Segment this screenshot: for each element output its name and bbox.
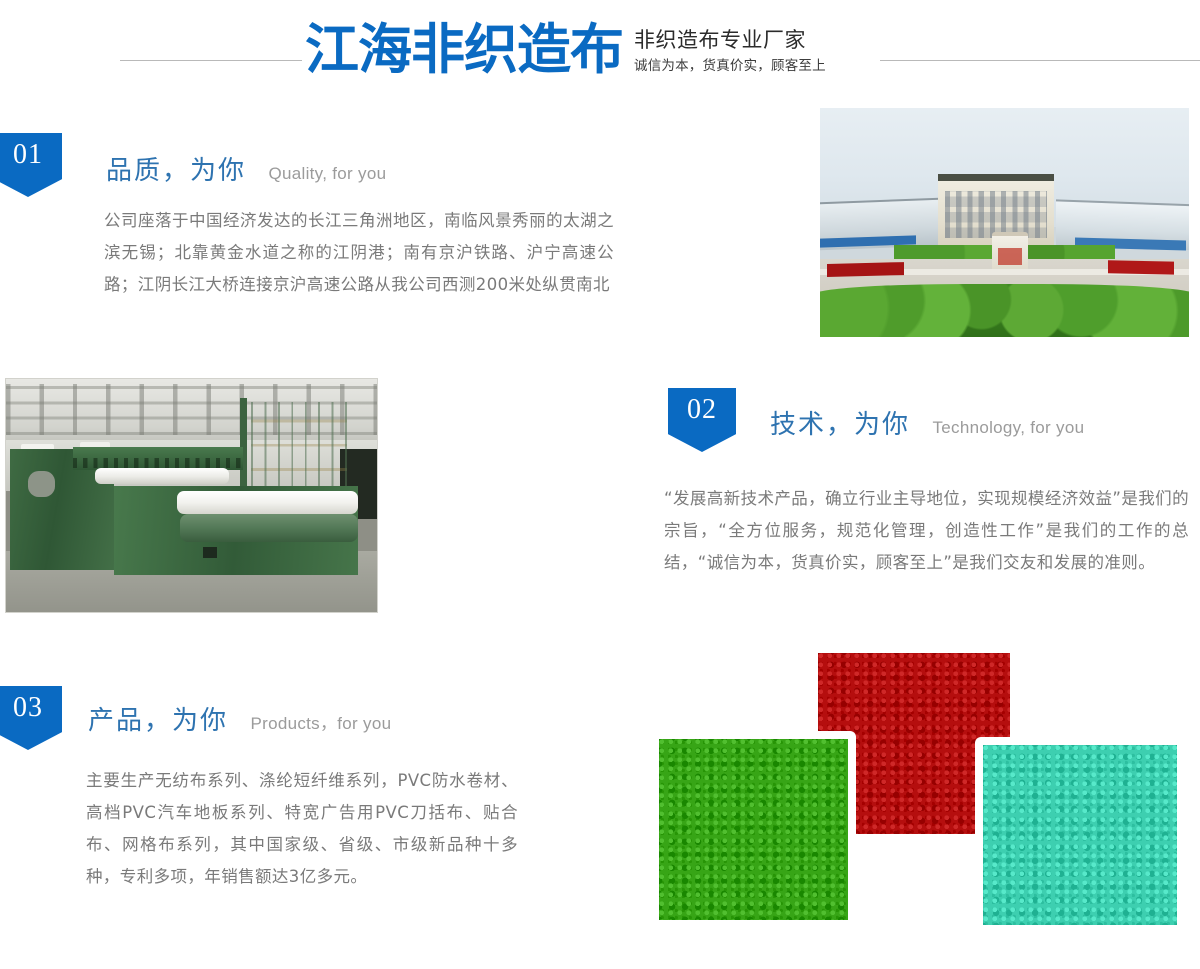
campus-hedge xyxy=(820,284,1189,337)
company-intro-page: 江海非织造布 非织造布专业厂家 诚信为本，货真价实，顾客至上 01 品质，为你 … xyxy=(0,0,1200,969)
section-heading-02: 技术，为你 Technology, for you xyxy=(770,404,1084,441)
machine-upper-housing xyxy=(73,447,244,470)
company-tagline-block: 非织造布专业厂家 诚信为本，货真价实，顾客至上 xyxy=(634,27,849,75)
pvc-swatch-green xyxy=(651,731,856,928)
section-badge-03: 03 xyxy=(0,686,62,750)
tagline-secondary: 诚信为本，货真价实，顾客至上 xyxy=(634,57,849,75)
section-badge-01: 01 xyxy=(0,133,62,197)
section-heading-03-cn: 产品，为你 xyxy=(88,706,228,736)
section-body-02: “发展高新技术产品，确立行业主导地位，实现规模经济效益”是我们的宗旨，“全方位服… xyxy=(664,483,1189,579)
campus-sign-right xyxy=(1108,261,1174,275)
section-heading-03-en: Products，for you xyxy=(250,714,391,733)
pvc-swatch-teal-surface xyxy=(983,745,1177,925)
section-heading-01: 品质，为你 Quality, for you xyxy=(106,150,386,187)
machine-vent xyxy=(203,547,218,559)
section-body-01: 公司座落于中国经济发达的长江三角洲地区，南临风景秀丽的太湖之滨无锡；北靠黄金水道… xyxy=(104,205,614,301)
machine-pipework xyxy=(251,402,347,495)
header-rule-left xyxy=(120,60,302,61)
company-logo-text: 江海非织造布 xyxy=(305,21,623,79)
section-badge-02: 02 xyxy=(668,388,736,452)
fabric-roll-main xyxy=(177,491,359,514)
factory-campus-photo xyxy=(820,108,1189,337)
pvc-swatch-green-surface xyxy=(659,739,848,920)
section-heading-01-en: Quality, for you xyxy=(268,164,386,183)
section-body-03: 主要生产无纺布系列、涤纶短纤维系列，PVC防水卷材、高档PVC汽车地板系列、特宽… xyxy=(86,765,518,893)
machine-drum xyxy=(180,514,358,542)
fabric-roll-upper xyxy=(95,468,229,484)
pvc-swatch-teal xyxy=(975,737,1185,933)
section-heading-02-en: Technology, for you xyxy=(932,418,1084,437)
header-rule-right xyxy=(880,60,1200,61)
section-heading-01-cn: 品质，为你 xyxy=(106,156,246,186)
page-header: 江海非织造布 非织造布专业厂家 诚信为本，货真价实，顾客至上 xyxy=(0,0,1200,100)
tagline-primary: 非织造布专业厂家 xyxy=(634,27,849,53)
nonwoven-production-line-photo xyxy=(5,378,378,613)
campus-sign-left xyxy=(827,262,904,276)
section-heading-02-cn: 技术，为你 xyxy=(770,410,910,440)
section-heading-03: 产品，为你 Products，for you xyxy=(88,700,391,737)
